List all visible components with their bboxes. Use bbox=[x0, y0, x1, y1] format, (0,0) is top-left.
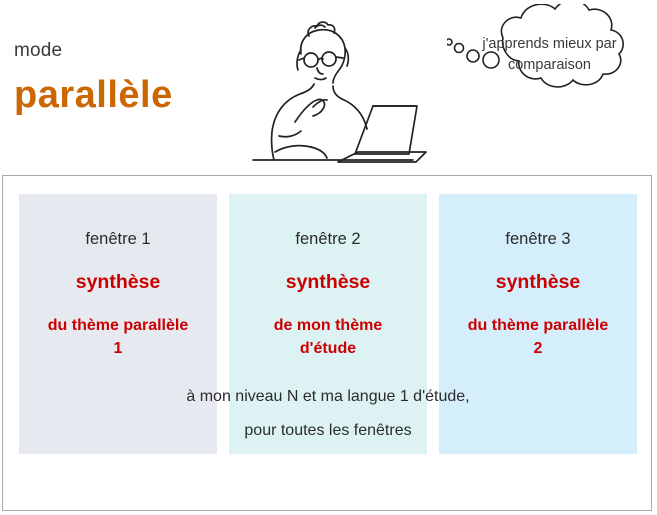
theme-line-3-a: du thème parallèle bbox=[439, 314, 637, 337]
synthesis-label-2: synthèse bbox=[229, 271, 427, 294]
theme-line-2-a: de mon thème bbox=[229, 314, 427, 337]
header: mode parallèle bbox=[0, 0, 657, 175]
synthesis-label-3: synthèse bbox=[439, 271, 637, 294]
window-label-2: fenêtre 2 bbox=[229, 230, 427, 249]
window-label-3: fenêtre 3 bbox=[439, 230, 637, 249]
window-label-1: fenêtre 1 bbox=[19, 230, 217, 249]
footer-line-1: à mon niveau N et ma langue 1 d'étude, bbox=[19, 388, 637, 406]
footer-line-2: pour toutes les fenêtres bbox=[19, 422, 637, 440]
mode-label: mode bbox=[14, 40, 62, 62]
theme-line-2-b: d'étude bbox=[229, 337, 427, 360]
parallel-mode-panel: fenêtre 1 synthèse du thème parallèle 1 … bbox=[2, 175, 652, 511]
theme-line-1-a: du thème parallèle bbox=[19, 314, 217, 337]
theme-line-1-b: 1 bbox=[19, 337, 217, 360]
theme-line-3-b: 2 bbox=[439, 337, 637, 360]
person-thinking-at-laptop-illustration bbox=[205, 2, 445, 177]
panel-footer: à mon niveau N et ma langue 1 d'étude, p… bbox=[19, 388, 637, 440]
synthesis-label-1: synthèse bbox=[19, 271, 217, 294]
page-title: parallèle bbox=[14, 74, 173, 117]
thought-bubble-text: j'apprends mieux par comparaison bbox=[477, 34, 622, 76]
